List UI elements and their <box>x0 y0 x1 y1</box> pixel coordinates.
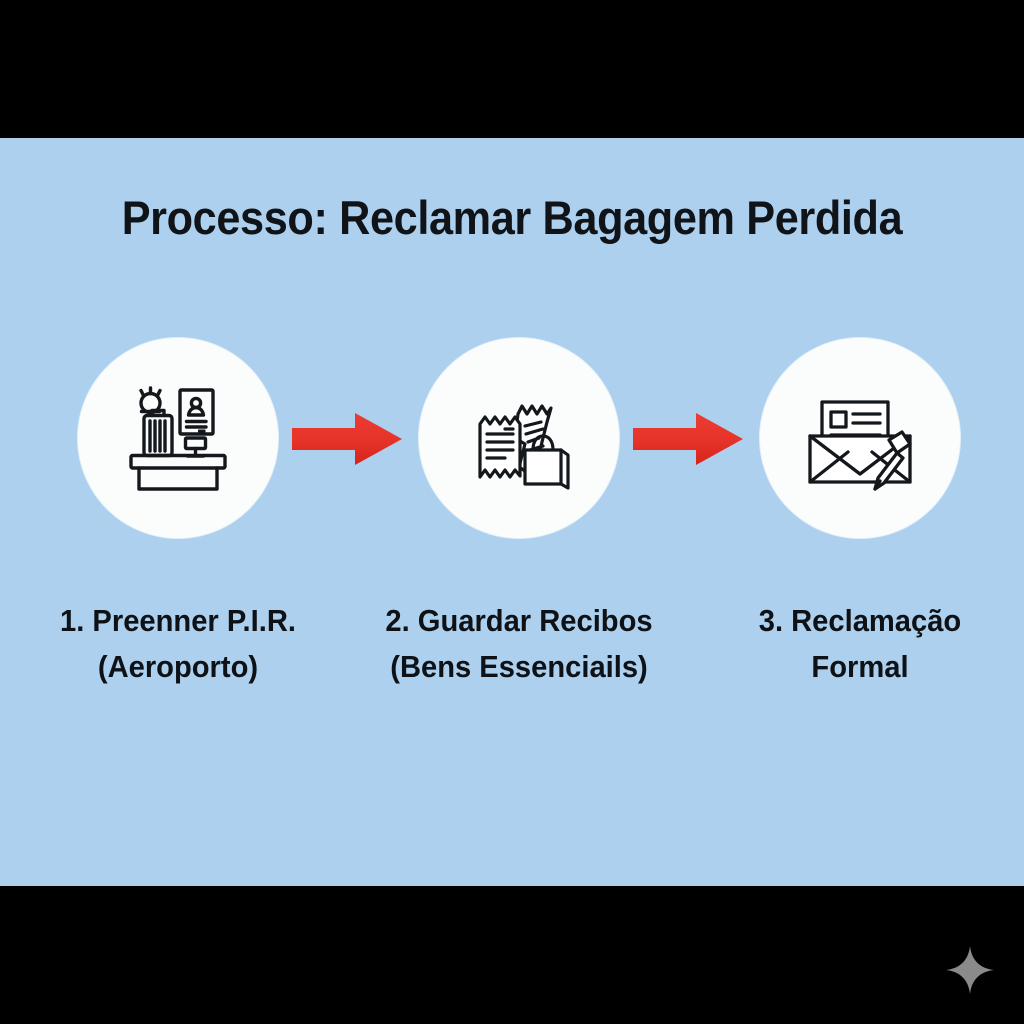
step-1-caption-line2: (Aeroporto) <box>23 644 333 690</box>
page-title: Processo: Reclamar Bagagem Perdida <box>41 190 983 245</box>
step-1-icon-circle[interactable] <box>78 338 278 538</box>
image-frame: Processo: Reclamar Bagagem Perdida <box>0 0 1024 1024</box>
step-2-caption: 2. Guardar Recibos (Bens Essenciails) <box>364 598 674 690</box>
infographic-slide: Processo: Reclamar Bagagem Perdida <box>0 138 1024 886</box>
airport-counter-icon <box>114 374 242 502</box>
step-3-caption: 3. Reclamação Formal <box>705 598 1015 690</box>
arrow-step1-to-step2 <box>292 411 402 467</box>
sparkle-icon <box>944 944 996 996</box>
step-3-icon-circle[interactable] <box>760 338 960 538</box>
step-1-caption-line1: 1. Preenner P.I.R. <box>23 598 333 644</box>
process-step-row <box>0 338 1024 538</box>
step-2-caption-line2: (Bens Essenciails) <box>364 644 674 690</box>
envelope-letter-pen-icon <box>796 374 924 502</box>
step-2-caption-line1: 2. Guardar Recibos <box>364 598 674 644</box>
letterbox-bar-top <box>0 0 1024 138</box>
step-caption-row: 1. Preenner P.I.R. (Aeroporto) 2. Guarda… <box>0 598 1024 728</box>
arrow-step2-to-step3 <box>633 411 743 467</box>
step-3-caption-line1: 3. Reclamação <box>705 598 1015 644</box>
step-2-icon-circle[interactable] <box>419 338 619 538</box>
letterbox-bar-bottom <box>0 886 1024 1024</box>
step-1-caption: 1. Preenner P.I.R. (Aeroporto) <box>23 598 333 690</box>
step-3-caption-line2: Formal <box>705 644 1015 690</box>
receipts-shopping-bag-icon <box>455 374 583 502</box>
